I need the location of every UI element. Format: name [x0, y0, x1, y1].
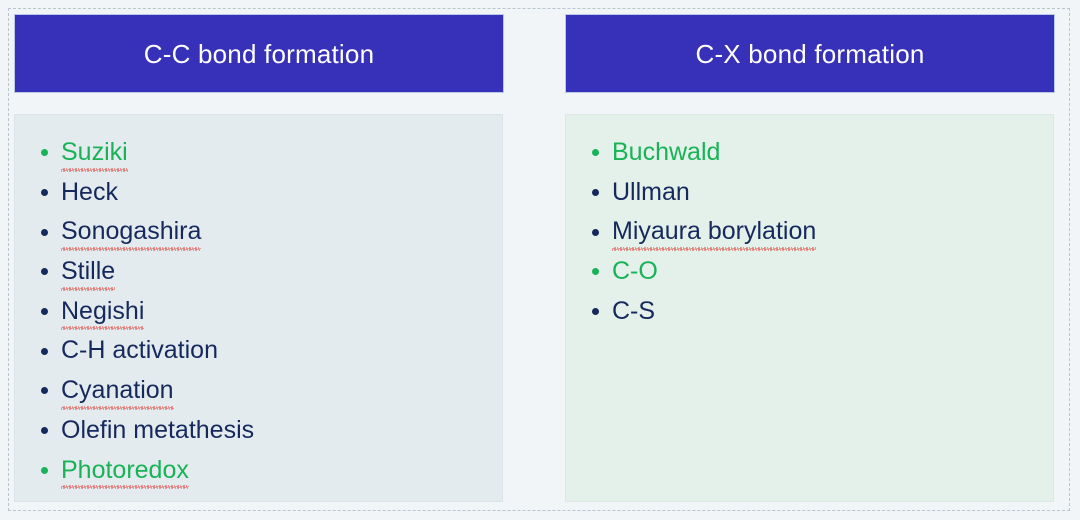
- bullet-icon: [41, 189, 48, 196]
- bullet-icon: [41, 467, 48, 474]
- bullet-icon: [592, 149, 599, 156]
- panel-header-title-c-c: C-C bond formation: [144, 41, 374, 67]
- list-item[interactable]: Stille: [15, 252, 502, 292]
- bullet-icon: [41, 229, 48, 236]
- bullet-icon: [41, 268, 48, 275]
- panel-header-c-c[interactable]: C-C bond formation: [14, 14, 504, 93]
- list-item-label: Cyanation: [61, 371, 174, 411]
- list-item-label: Buchwald: [612, 133, 720, 173]
- list-item[interactable]: C-H activation: [15, 331, 502, 371]
- list-item[interactable]: Cyanation: [15, 371, 502, 411]
- bullet-icon: [41, 427, 48, 434]
- bullet-icon: [592, 229, 599, 236]
- bullet-icon: [592, 268, 599, 275]
- list-item-label: C-O: [612, 252, 658, 292]
- list-item-label: Ullman: [612, 173, 690, 213]
- list-item[interactable]: Buchwald: [566, 133, 1053, 173]
- list-item[interactable]: C-O: [566, 252, 1053, 292]
- list-item[interactable]: Suziki: [15, 133, 502, 173]
- list-item[interactable]: Miyaura borylation: [566, 212, 1053, 252]
- list-item-label: Stille: [61, 252, 115, 292]
- list-item-label: Sonogashira: [61, 212, 201, 252]
- panel-header-title-c-x: C-X bond formation: [695, 41, 924, 67]
- bullet-icon: [592, 189, 599, 196]
- list-item[interactable]: Photoredox: [15, 451, 502, 491]
- list-item-label: Heck: [61, 173, 118, 213]
- bullet-icon: [41, 348, 48, 355]
- panel-body-c-x[interactable]: BuchwaldUllmanMiyaura borylationC-OC-S: [565, 114, 1054, 502]
- bullet-icon: [41, 387, 48, 394]
- panel-header-c-x[interactable]: C-X bond formation: [565, 14, 1055, 93]
- list-item[interactable]: Heck: [15, 173, 502, 213]
- panel-body-c-c[interactable]: SuzikiHeckSonogashiraStilleNegishiC-H ac…: [14, 114, 503, 502]
- list-item-label: Suziki: [61, 133, 128, 173]
- bullet-icon: [592, 308, 599, 315]
- list-item-label: Negishi: [61, 292, 144, 332]
- list-item[interactable]: Negishi: [15, 292, 502, 332]
- list-item[interactable]: Sonogashira: [15, 212, 502, 252]
- bullet-icon: [41, 149, 48, 156]
- list-item[interactable]: C-S: [566, 292, 1053, 332]
- bullet-icon: [41, 308, 48, 315]
- list-item-label: Miyaura borylation: [612, 212, 816, 252]
- list-item-label: C-S: [612, 292, 655, 332]
- list-item-label: Olefin metathesis: [61, 411, 254, 451]
- list-item[interactable]: Olefin metathesis: [15, 411, 502, 451]
- reaction-list-c-c: SuzikiHeckSonogashiraStilleNegishiC-H ac…: [15, 133, 502, 490]
- list-item-label: C-H activation: [61, 331, 218, 371]
- list-item[interactable]: Ullman: [566, 173, 1053, 213]
- list-item-label: Photoredox: [61, 451, 189, 491]
- reaction-list-c-x: BuchwaldUllmanMiyaura borylationC-OC-S: [566, 133, 1053, 331]
